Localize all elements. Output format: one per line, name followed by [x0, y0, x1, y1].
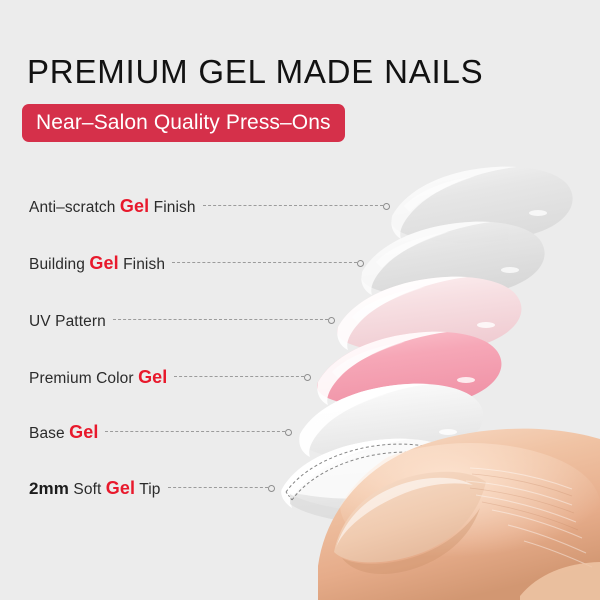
leader-line	[105, 431, 285, 433]
callout-list: Anti–scratch Gel Finish Building Gel Fin…	[0, 0, 600, 600]
leader-endpoint-dot	[304, 374, 311, 381]
callout-label: Premium Color Gel	[29, 367, 167, 388]
product-infographic: PREMIUM GEL MADE NAILS Near–Salon Qualit…	[0, 0, 600, 600]
leader-line	[203, 205, 383, 207]
leader-line	[174, 376, 304, 378]
leader-line	[172, 262, 357, 264]
callout-anti-scratch-gel-finish: Anti–scratch Gel Finish	[29, 195, 383, 217]
callout-label: 2mm Soft Gel Tip	[29, 478, 161, 499]
callout-soft-gel-tip: 2mm Soft Gel Tip	[29, 477, 268, 499]
callout-label: Building Gel Finish	[29, 253, 165, 274]
leader-endpoint-dot	[383, 203, 390, 210]
callout-label: Anti–scratch Gel Finish	[29, 196, 196, 217]
callout-base-gel: Base Gel	[29, 421, 285, 443]
leader-endpoint-dot	[328, 317, 335, 324]
leader-endpoint-dot	[357, 260, 364, 267]
leader-endpoint-dot	[268, 485, 275, 492]
callout-uv-pattern: UV Pattern	[29, 309, 328, 331]
leader-endpoint-dot	[285, 429, 292, 436]
leader-line	[113, 319, 328, 321]
callout-building-gel-finish: Building Gel Finish	[29, 252, 357, 274]
callout-premium-color-gel: Premium Color Gel	[29, 366, 304, 388]
callout-label: UV Pattern	[29, 310, 106, 331]
callout-label: Base Gel	[29, 422, 98, 443]
leader-line	[168, 487, 268, 489]
